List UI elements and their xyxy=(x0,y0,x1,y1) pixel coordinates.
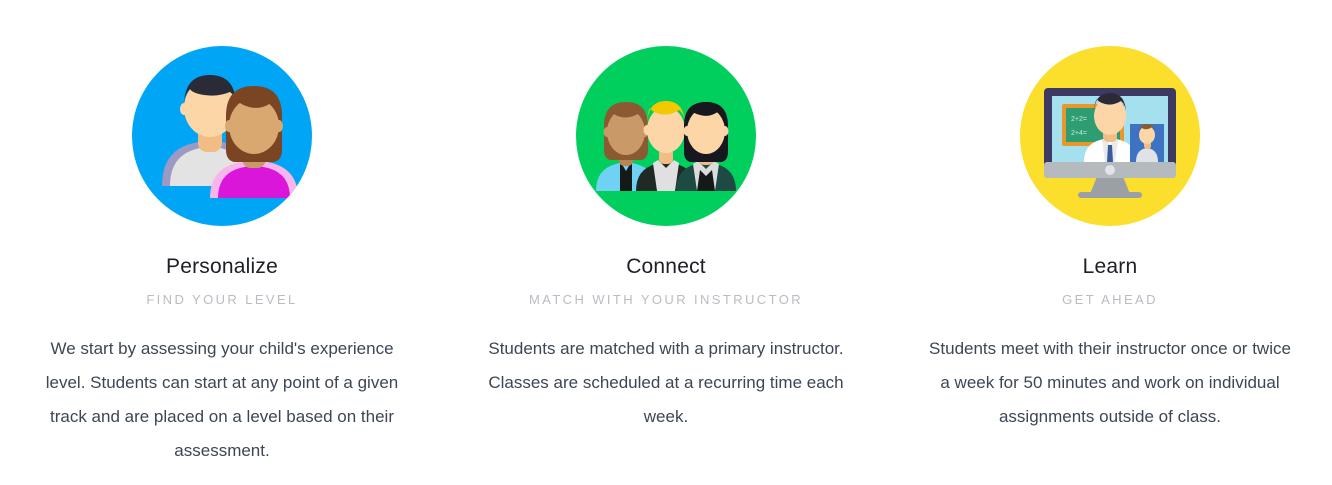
feature-kicker: FIND YOUR LEVEL xyxy=(146,293,297,306)
feature-title: Connect xyxy=(626,256,706,277)
feature-kicker: MATCH WITH YOUR INSTRUCTOR xyxy=(529,293,803,306)
feature-body: Students meet with their instructor once… xyxy=(928,332,1292,434)
svg-text:2+4=: 2+4= xyxy=(1071,130,1087,137)
feature-body: Students are matched with a primary inst… xyxy=(474,332,858,434)
feature-kicker: GET AHEAD xyxy=(1062,293,1158,306)
feature-title: Learn xyxy=(1083,256,1138,277)
two-people-icon xyxy=(132,46,312,226)
feature-column-connect: Connect MATCH WITH YOUR INSTRUCTOR Stude… xyxy=(444,0,888,485)
online-classroom-monitor-icon: 2+2= 2+4= xyxy=(1020,46,1200,226)
svg-text:2+2=: 2+2= xyxy=(1071,116,1087,123)
feature-column-personalize: Personalize FIND YOUR LEVEL We start by … xyxy=(0,0,444,485)
feature-column-learn: 2+2= 2+4= Learn GET AHEAD Students meet … xyxy=(888,0,1332,485)
three-instructors-icon xyxy=(576,46,756,226)
feature-title: Personalize xyxy=(166,256,278,277)
feature-body: We start by assessing your child's exper… xyxy=(35,332,409,468)
features-section: Personalize FIND YOUR LEVEL We start by … xyxy=(0,0,1332,485)
